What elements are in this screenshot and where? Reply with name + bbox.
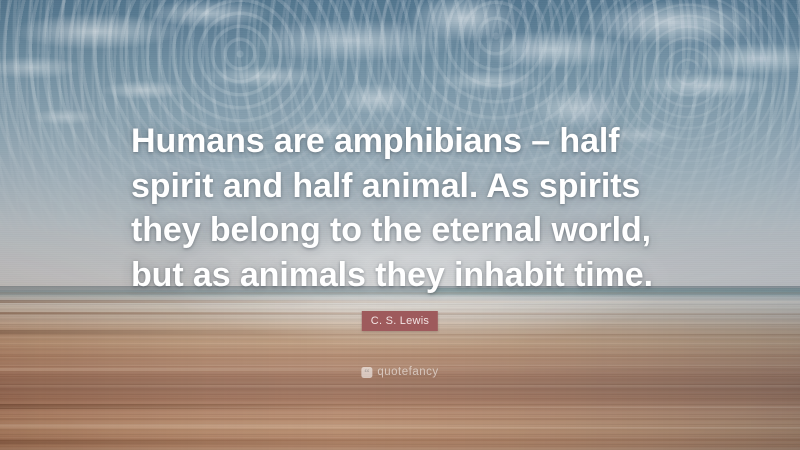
watermark: “ quotefancy	[361, 366, 438, 378]
quote-image-canvas: Humans are amphibians – half spirit and …	[0, 0, 800, 450]
quote-text: Humans are amphibians – half spirit and …	[131, 119, 691, 297]
watermark-brand-label: quotefancy	[377, 366, 438, 378]
poster-content: Humans are amphibians – half spirit and …	[0, 0, 800, 450]
author-attribution-badge: C. S. Lewis	[362, 311, 438, 331]
quote-mark-icon: “	[361, 367, 372, 378]
